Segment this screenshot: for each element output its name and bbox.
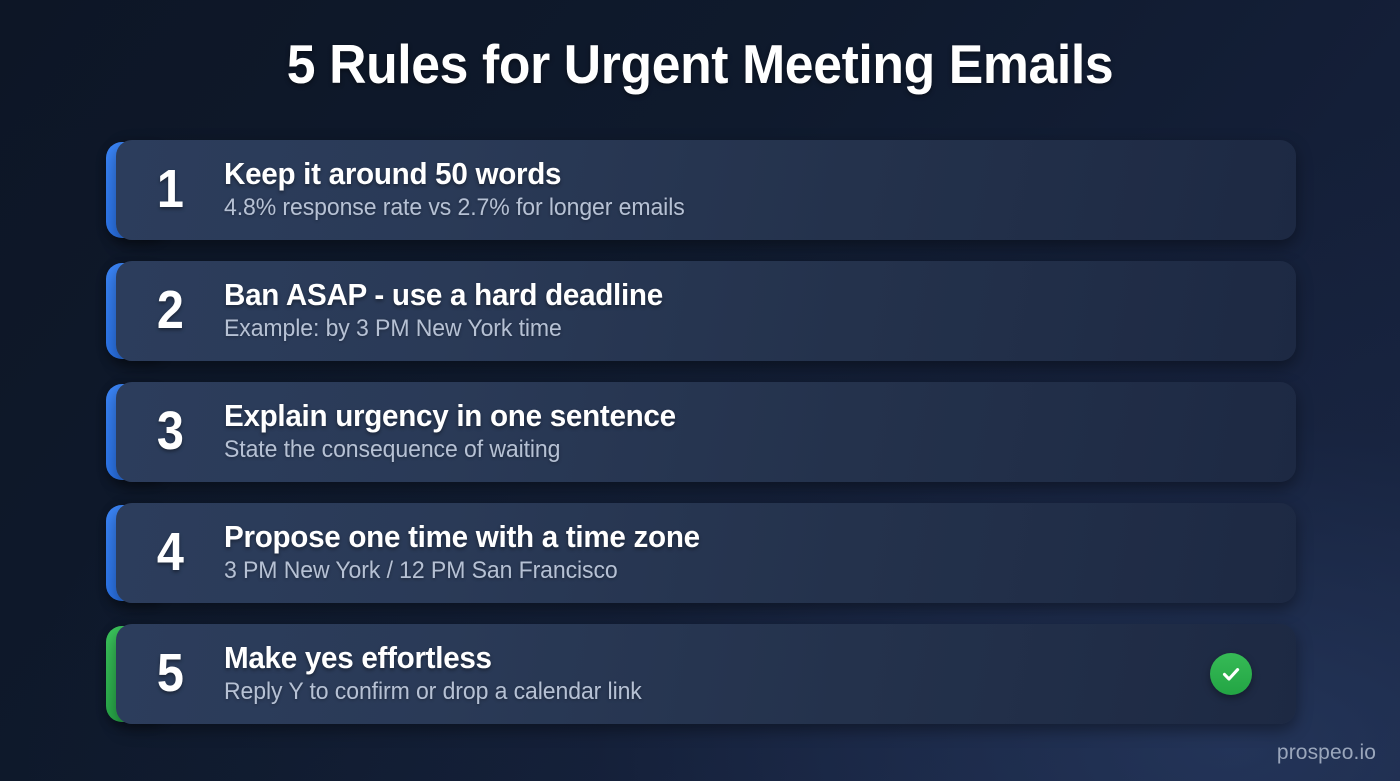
page-title: 5 Rules for Urgent Meeting Emails: [42, 36, 1358, 94]
list-item: 1 Keep it around 50 words 4.8% response …: [106, 140, 1296, 240]
infographic-canvas: 5 Rules for Urgent Meeting Emails 1 Keep…: [0, 0, 1400, 781]
rule-number: 2: [121, 283, 218, 339]
rule-title: Ban ASAP - use a hard deadline: [224, 278, 1225, 313]
rule-subtitle: 3 PM New York / 12 PM San Francisco: [224, 557, 1230, 586]
rule-number: 1: [121, 162, 218, 218]
rules-list: 1 Keep it around 50 words 4.8% response …: [106, 140, 1296, 724]
rule-subtitle: Reply Y to confirm or drop a calendar li…: [224, 678, 1230, 707]
rule-text-group: Propose one time with a time zone 3 PM N…: [224, 520, 1296, 586]
rule-number: 4: [121, 525, 218, 581]
rule-card: 4 Propose one time with a time zone 3 PM…: [116, 503, 1296, 603]
rule-title: Make yes effortless: [224, 641, 1225, 676]
rule-subtitle: State the consequence of waiting: [224, 436, 1230, 465]
rule-card: 3 Explain urgency in one sentence State …: [116, 382, 1296, 482]
check-icon: [1219, 662, 1243, 686]
rule-subtitle: Example: by 3 PM New York time: [224, 315, 1230, 344]
rule-subtitle: 4.8% response rate vs 2.7% for longer em…: [224, 194, 1230, 223]
rule-number: 3: [121, 404, 218, 460]
rule-text-group: Keep it around 50 words 4.8% response ra…: [224, 157, 1296, 223]
rule-card: 5 Make yes effortless Reply Y to confirm…: [116, 624, 1296, 724]
rule-title: Propose one time with a time zone: [224, 520, 1225, 555]
rule-title: Keep it around 50 words: [224, 157, 1225, 192]
footer-watermark: prospeo.io: [1277, 741, 1376, 765]
rule-title: Explain urgency in one sentence: [224, 399, 1225, 434]
list-item: 3 Explain urgency in one sentence State …: [106, 382, 1296, 482]
list-item: 2 Ban ASAP - use a hard deadline Example…: [106, 261, 1296, 361]
rule-card: 2 Ban ASAP - use a hard deadline Example…: [116, 261, 1296, 361]
rule-text-group: Make yes effortless Reply Y to confirm o…: [224, 641, 1296, 707]
rule-card: 1 Keep it around 50 words 4.8% response …: [116, 140, 1296, 240]
rule-text-group: Explain urgency in one sentence State th…: [224, 399, 1296, 465]
status-badge: [1210, 653, 1252, 695]
rule-text-group: Ban ASAP - use a hard deadline Example: …: [224, 278, 1296, 344]
rule-number: 5: [121, 646, 218, 702]
list-item: 4 Propose one time with a time zone 3 PM…: [106, 503, 1296, 603]
list-item: 5 Make yes effortless Reply Y to confirm…: [106, 624, 1296, 724]
